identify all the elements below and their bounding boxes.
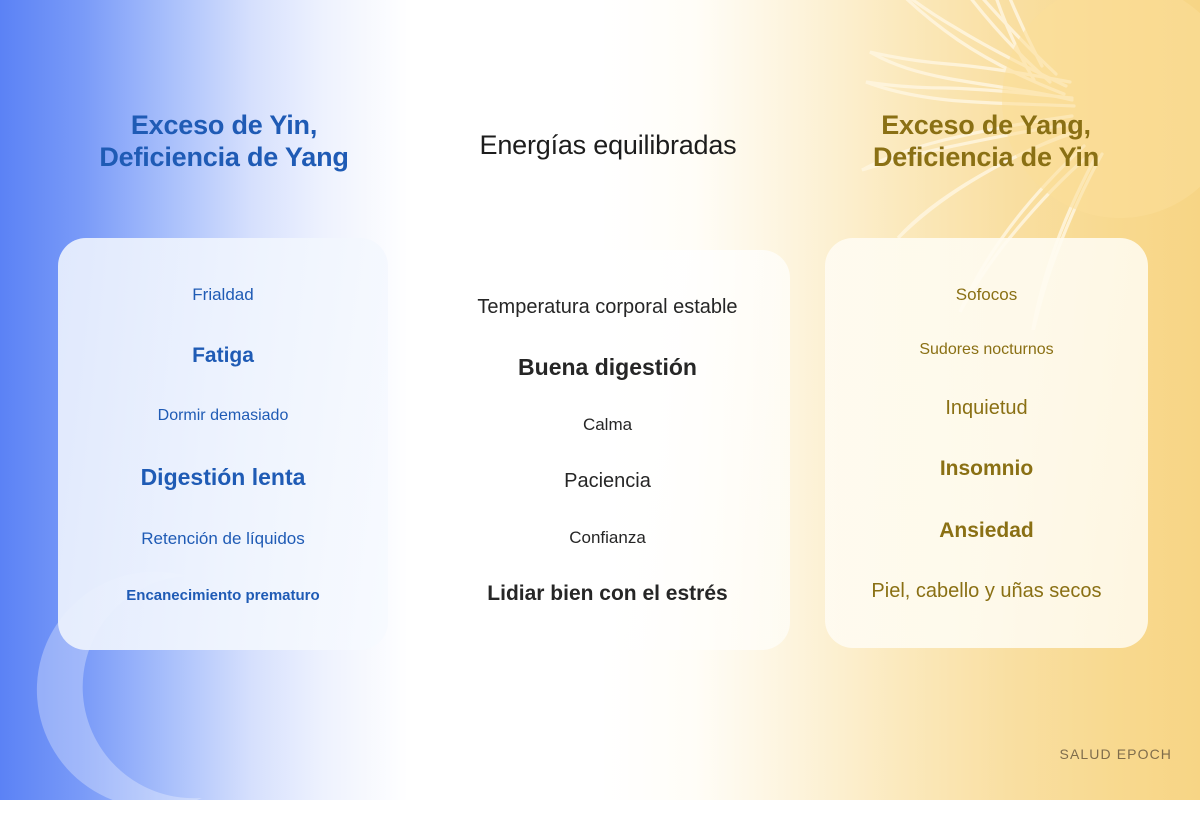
list-item: Piel, cabello y uñas secos <box>839 580 1134 603</box>
infographic-stage: Exceso de Yin, Deficiencia de Yang Frial… <box>0 0 1200 800</box>
column-title-line-1: Exceso de Yin, <box>30 110 418 142</box>
list-item: Digestión lenta <box>72 464 374 490</box>
list-item: Frialdad <box>72 285 374 305</box>
column-title-yin-excess: Exceso de Yin, Deficiencia de Yang <box>30 0 418 173</box>
list-item: Paciencia <box>439 470 776 493</box>
list-item: Temperatura corporal estable <box>439 296 776 319</box>
list-item: Ansiedad <box>839 519 1134 543</box>
column-title-line-1: Energías equilibradas <box>418 130 798 162</box>
list-item: Insomnio <box>839 457 1134 481</box>
card-yang-excess: Sofocos Sudores nocturnos Inquietud Inso… <box>825 238 1148 648</box>
list-item: Sofocos <box>839 285 1134 305</box>
list-item: Sudores nocturnos <box>839 341 1134 359</box>
column-title-line-2: Deficiencia de Yin <box>800 142 1172 174</box>
list-item: Lidiar bien con el estrés <box>439 582 776 606</box>
list-item: Confianza <box>439 528 776 548</box>
card-balanced: Temperatura corporal estable Buena diges… <box>425 250 790 650</box>
card-yin-excess: Frialdad Fatiga Dormir demasiado Digesti… <box>58 238 388 650</box>
column-yang-excess: Exceso de Yang, Deficiencia de Yin <box>800 0 1172 173</box>
column-title-line-2: Deficiencia de Yang <box>30 142 418 174</box>
list-item: Buena digestión <box>439 354 776 380</box>
list-item: Dormir demasiado <box>72 407 374 425</box>
list-item: Retención de líquidos <box>72 529 374 549</box>
column-title-yang-excess: Exceso de Yang, Deficiencia de Yin <box>800 0 1172 173</box>
column-balanced: Energías equilibradas <box>418 0 798 162</box>
watermark-brand: SALUD EPOCH <box>1060 746 1172 762</box>
list-item: Encanecimiento prematuro <box>72 587 374 604</box>
column-yin-excess: Exceso de Yin, Deficiencia de Yang <box>30 0 418 173</box>
column-title-balanced: Energías equilibradas <box>418 0 798 162</box>
list-item: Fatiga <box>72 344 374 368</box>
column-title-line-1: Exceso de Yang, <box>800 110 1172 142</box>
list-item: Inquietud <box>839 397 1134 420</box>
list-item: Calma <box>439 415 776 435</box>
